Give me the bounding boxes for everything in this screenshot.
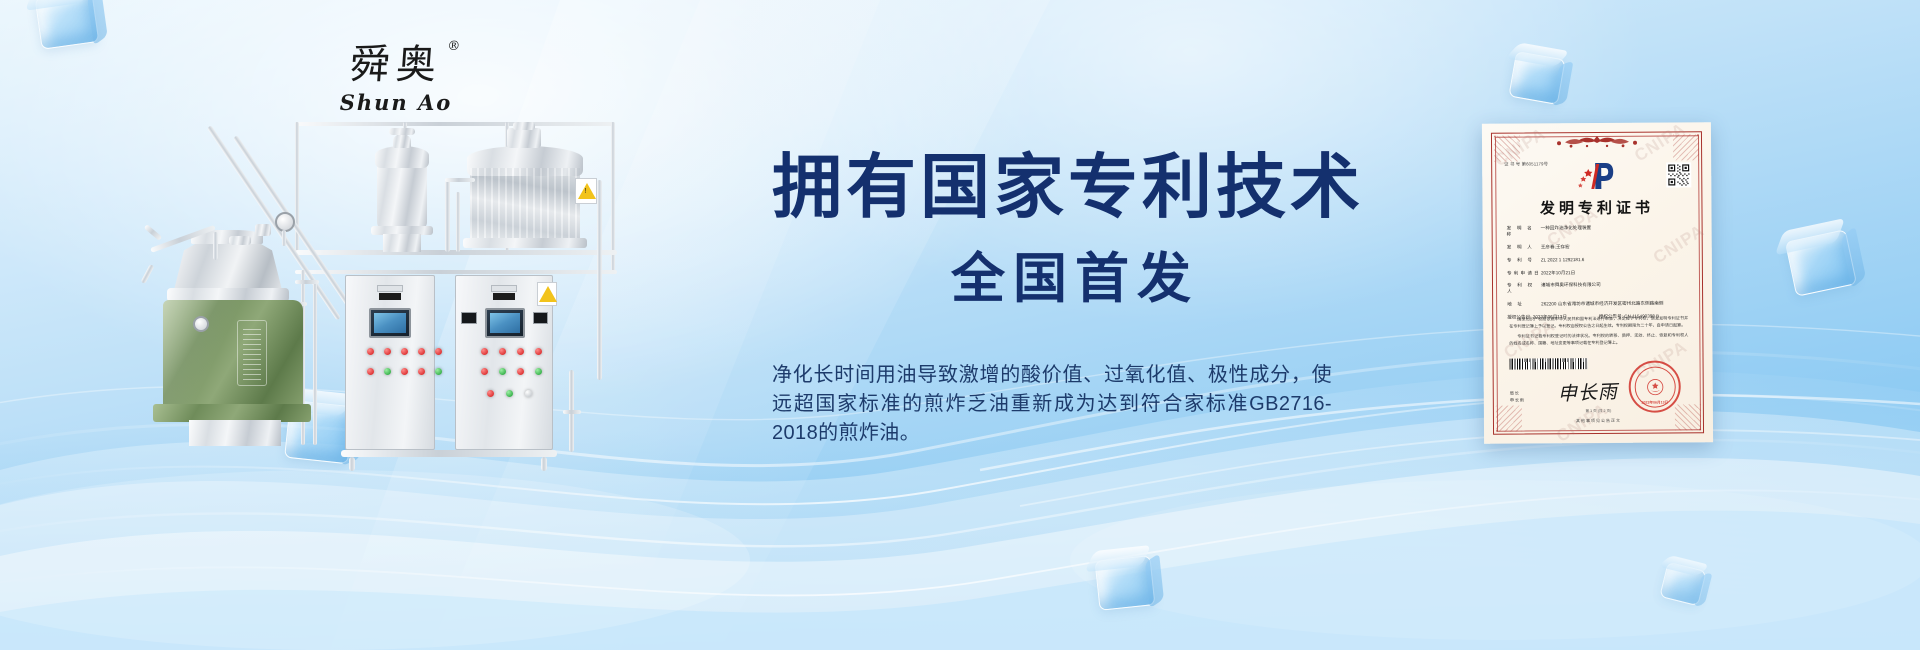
certificate-barcode (1510, 358, 1588, 370)
national-emblem-icon (1646, 378, 1663, 395)
promotional-banner: 舜奥 ® Shun Ao (0, 0, 1920, 650)
registered-trademark-icon: ® (447, 40, 461, 54)
field-key: 发 明 名 称 (1507, 225, 1541, 237)
certificate-serial-number: 证 书 号 第6051179号 (1504, 161, 1548, 167)
ice-cube (35, 0, 100, 50)
field-key: 专 利 号 (1507, 257, 1541, 263)
logo-chinese-name: 舜奥 ® (349, 44, 444, 86)
control-panel-left[interactable] (345, 275, 435, 450)
director-signature: 申长雨 (1557, 377, 1618, 406)
certificate-director-block: 局长 申长雨 (1510, 391, 1525, 404)
field-key: 地 址 (1507, 301, 1541, 307)
certificate-footer-note: 其他事项见公告正文 (1500, 417, 1697, 424)
certificate-qr-code (1666, 162, 1691, 187)
warning-triangle-icon: ! (575, 178, 597, 204)
field-value: 2022年10月21日 (1541, 269, 1690, 276)
seal-date: 2023年06月13日 (1631, 400, 1679, 405)
certificate-field-row: 地 址 262200 山东省潍坊市诸城市经济开发区密州北路东侧路南侧 (1507, 300, 1690, 307)
certificate-legal-paragraph: 国家知识产权局依照中华人民共和国专利法进行审查，决定授予专利权，颁发发明专利证书… (1509, 314, 1688, 330)
hero-subtitle: 全国首发 (772, 234, 1392, 313)
ice-cube (1508, 51, 1565, 105)
warning-label-icon (537, 282, 557, 306)
field-key: 发 明 人 (1507, 244, 1541, 250)
oil-purification-equipment: ! (145, 120, 615, 450)
page-title: 拥有国家专利技术 (772, 150, 1392, 226)
logo-latin-name: Shun Ao (336, 90, 456, 115)
field-value: 一种回炸油净化处理装置 (1541, 224, 1690, 237)
field-key: 专利申请日 (1507, 270, 1541, 276)
certificate-field-row: 专 利 权 人 诸城市舜奥环保科技有限公司 (1507, 282, 1690, 295)
brand-logo: 舜奥 ® Shun Ao (336, 44, 456, 115)
certificate-field-row: 专 利 号 ZL 2022 1 1292181.6 (1507, 256, 1690, 263)
certificate-field-row: 专利申请日 2022年10月21日 (1507, 269, 1690, 276)
certificate-legal-text: 国家知识产权局依照中华人民共和国专利法进行审查，决定授予专利权，颁发发明专利证书… (1509, 314, 1688, 347)
certificate-ornament (1548, 135, 1644, 150)
official-seal: 2023年06月13日 (1629, 360, 1681, 412)
field-value: ZL 2022 1 1292181.6 (1541, 256, 1690, 263)
patent-certificate: CNIPA CNIPA CNIPA CNIPA CNIPA CNIPA CNIP… (1482, 122, 1713, 444)
logo-chinese-text: 舜奥 (348, 42, 443, 88)
hero-copy: 拥有国家专利技术 全国首发 净化长时间用油导致激增的酸价值、过氧化值、极性成分，… (772, 150, 1392, 448)
cnipa-emblem-icon (1575, 161, 1619, 191)
certificate-page-number: 第 1 页 (共 2 页) (1500, 408, 1697, 414)
field-key: 专 利 权 人 (1507, 283, 1541, 295)
director-name: 申长雨 (1510, 397, 1525, 404)
pressure-gauge-icon (275, 212, 295, 232)
field-value: 诸城市舜奥环保科技有限公司 (1541, 282, 1690, 295)
process-tank-small (377, 158, 427, 230)
pressure-gauge-icon (193, 316, 209, 332)
certificate-legal-paragraph: 专利证书记载专利权登记时的法律状况。专利权的转移、质押、无效、终止、恢复和专利权… (1509, 332, 1688, 348)
certificate-field-row: 发 明 名 称 一种回炸油净化处理装置 (1507, 224, 1690, 237)
centrifuge-separator (173, 238, 283, 294)
certificate-title: 发明专利证书 (1498, 196, 1695, 218)
hero-description: 净化长时间用油导致激增的酸价值、过氧化值、极性成分，使远超国家标准的煎炸乏油重新… (772, 361, 1332, 448)
hmi-screen-left[interactable] (369, 308, 411, 338)
field-value: 262200 山东省潍坊市诸城市经济开发区密州北路东侧路南侧 (1541, 300, 1690, 307)
certificate-field-row: 发 明 人 王彦春;王存宏 (1507, 243, 1690, 250)
field-value: 王彦春;王存宏 (1541, 243, 1690, 250)
ice-cube (1095, 555, 1156, 611)
certificate-fields: 发 明 名 称 一种回炸油净化处理装置 发 明 人 王彦春;王存宏 专 利 号 … (1507, 224, 1691, 325)
hmi-screen-right[interactable] (485, 308, 525, 338)
